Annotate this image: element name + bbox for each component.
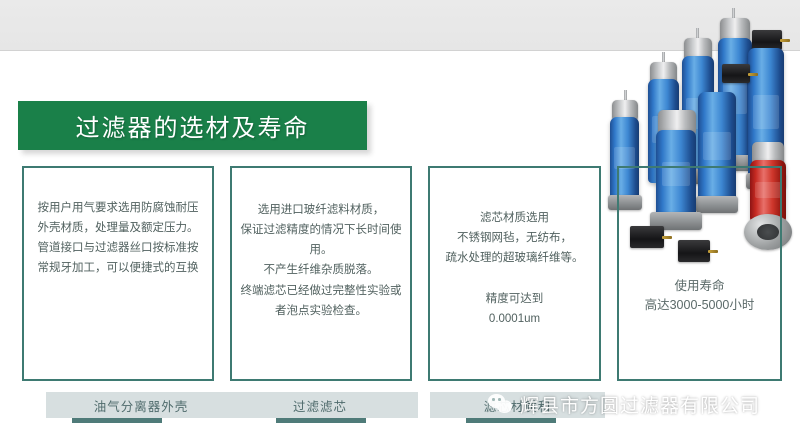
product-caption: 使用寿命 高达3000-5000小时 <box>617 277 782 316</box>
valve-pin <box>748 73 758 76</box>
content-box-4 <box>617 166 782 381</box>
product-caption-line2: 高达3000-5000小时 <box>617 296 782 315</box>
content-box-3-text: 滤芯材质选用 不锈钢网毡，无纺布， 疏水处理的超玻璃纤维等。 精度可达到 0.0… <box>438 208 591 329</box>
footer-underline-1 <box>72 418 162 423</box>
wechat-dot <box>498 398 501 401</box>
valve-pin <box>780 39 790 42</box>
slide-canvas: 过滤器的选材及寿命 按用户用气要求选用防腐蚀耐压外壳材质，处理量及额定压力。 管… <box>0 0 800 441</box>
canister-label <box>753 95 779 129</box>
canister-label <box>703 132 730 161</box>
solenoid-valve <box>722 64 750 83</box>
content-box-1: 按用户用气要求选用防腐蚀耐压外壳材质，处理量及额定压力。 管道接口与过滤器丝口按… <box>22 166 214 381</box>
wechat-dot <box>492 398 495 401</box>
footer-underline-2 <box>276 418 366 423</box>
content-box-2-text: 选用进口玻纤滤料材质， 保证过滤精度的情况下长时间使用。 不产生纤维杂质脱落。 … <box>240 200 402 321</box>
title-banner: 过滤器的选材及寿命 <box>18 101 367 150</box>
product-caption-line1: 使用寿命 <box>617 277 782 296</box>
watermark-text: 辉县市方圆过滤器有限公司 <box>520 391 760 418</box>
content-box-1-text: 按用户用气要求选用防腐蚀耐压外壳材质，处理量及额定压力。 管道接口与过滤器丝口按… <box>32 198 204 279</box>
footer-label-2: 过滤滤芯 <box>222 392 418 418</box>
wechat-icon <box>488 393 514 415</box>
footer-label-1: 油气分离器外壳 <box>46 392 236 418</box>
wechat-bubble-small <box>497 400 512 413</box>
page-title: 过滤器的选材及寿命 <box>18 101 367 150</box>
content-box-3: 滤芯材质选用 不锈钢网毡，无纺布， 疏水处理的超玻璃纤维等。 精度可达到 0.0… <box>428 166 601 381</box>
solenoid-valve <box>752 30 782 50</box>
content-box-2: 选用进口玻纤滤料材质， 保证过滤精度的情况下长时间使用。 不产生纤维杂质脱落。 … <box>230 166 412 381</box>
watermark: 辉县市方圆过滤器有限公司 <box>488 389 760 419</box>
